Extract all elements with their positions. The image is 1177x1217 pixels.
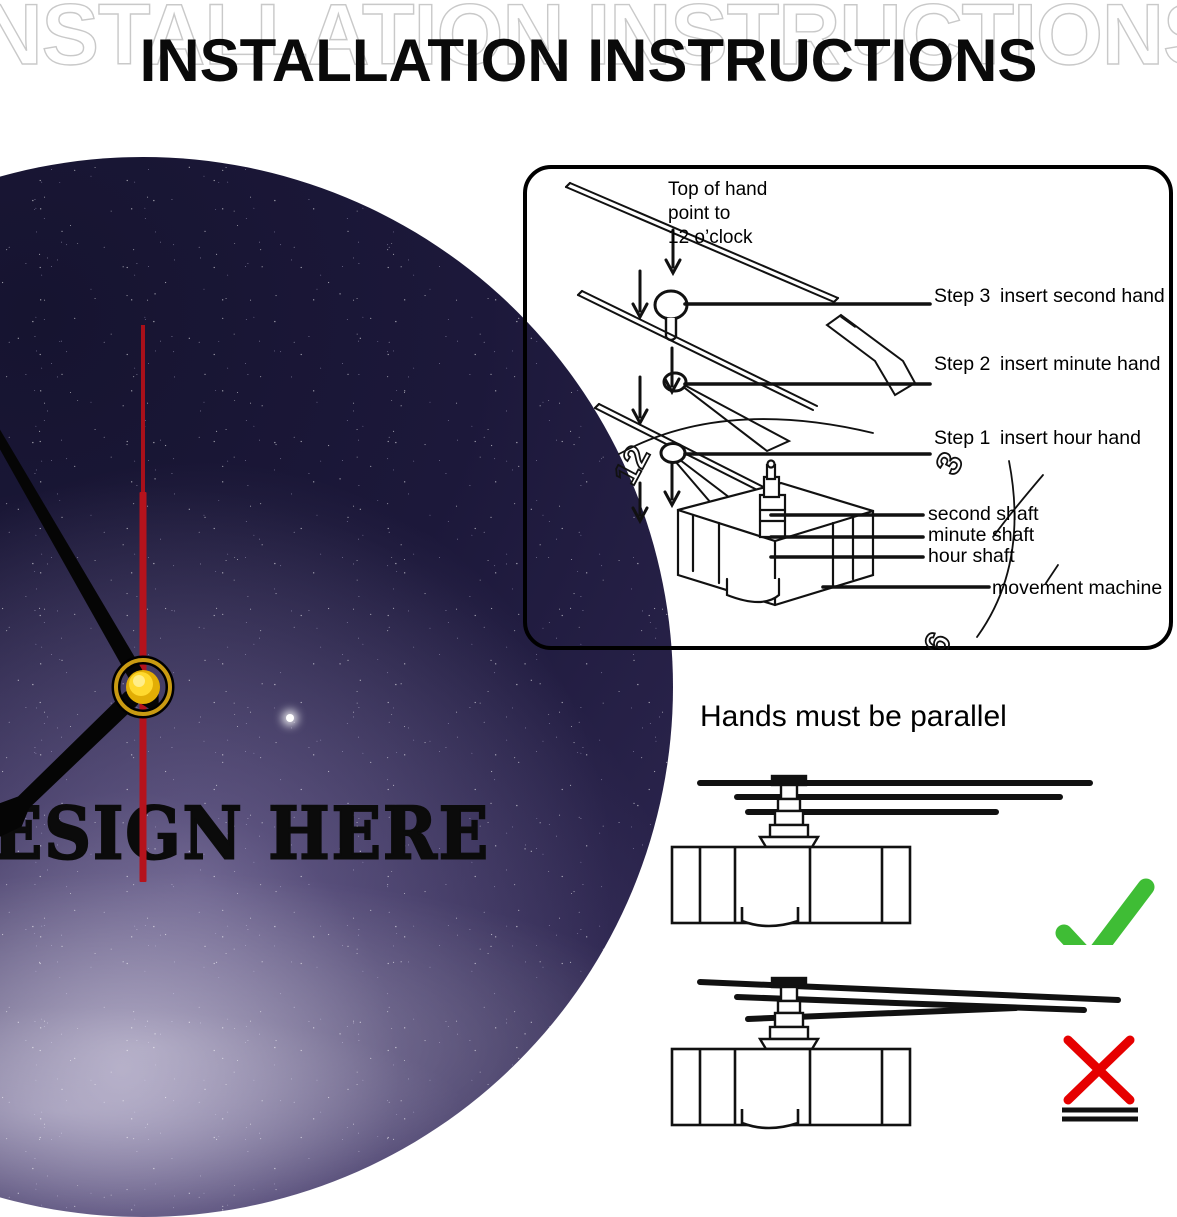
page-header: INSTALLATION INSTRUCTIONS INSTALLATION I… [0,0,1177,120]
step-1-action: insert hour hand [1000,427,1141,450]
numeral-6: 6 [917,626,959,650]
step-3-action: insert second hand [1000,285,1165,308]
movement-machine-label: movement machine [992,577,1162,600]
diagram-second-hand-hub [655,291,687,340]
check-mark-icon [1064,887,1146,945]
parallel-bad-illustration [660,950,1177,1150]
parallel-section-heading: Hands must be parallel [700,700,1007,734]
second-shaft-label: second shaft [928,503,1039,526]
parallel-good-illustration [660,745,1177,945]
minute-shaft-label: minute shaft [928,524,1034,547]
note-line-3: 12 o’clock [668,226,767,250]
step-2-action: insert minute hand [1000,353,1160,376]
bad-movement-body [672,1049,910,1128]
cross-mark-icon [1062,1040,1138,1119]
clock-hub [111,655,175,719]
step-2-number: Step 2 [934,353,990,376]
numeral-3: 3 [929,446,971,481]
note-line-1: Top of hand [668,178,767,202]
step-1-number: Step 1 [934,427,990,450]
top-of-hand-note: Top of hand point to 12 o’clock [668,178,767,250]
numeral-12: 12 [607,440,658,491]
good-movement-body [672,847,910,926]
hour-shaft-label: hour shaft [928,545,1015,568]
page-title: INSTALLATION INSTRUCTIONS [140,26,1038,95]
step-3-number: Step 3 [934,285,990,308]
note-line-2: point to [668,202,767,226]
diagram-minute-hand [578,291,817,451]
